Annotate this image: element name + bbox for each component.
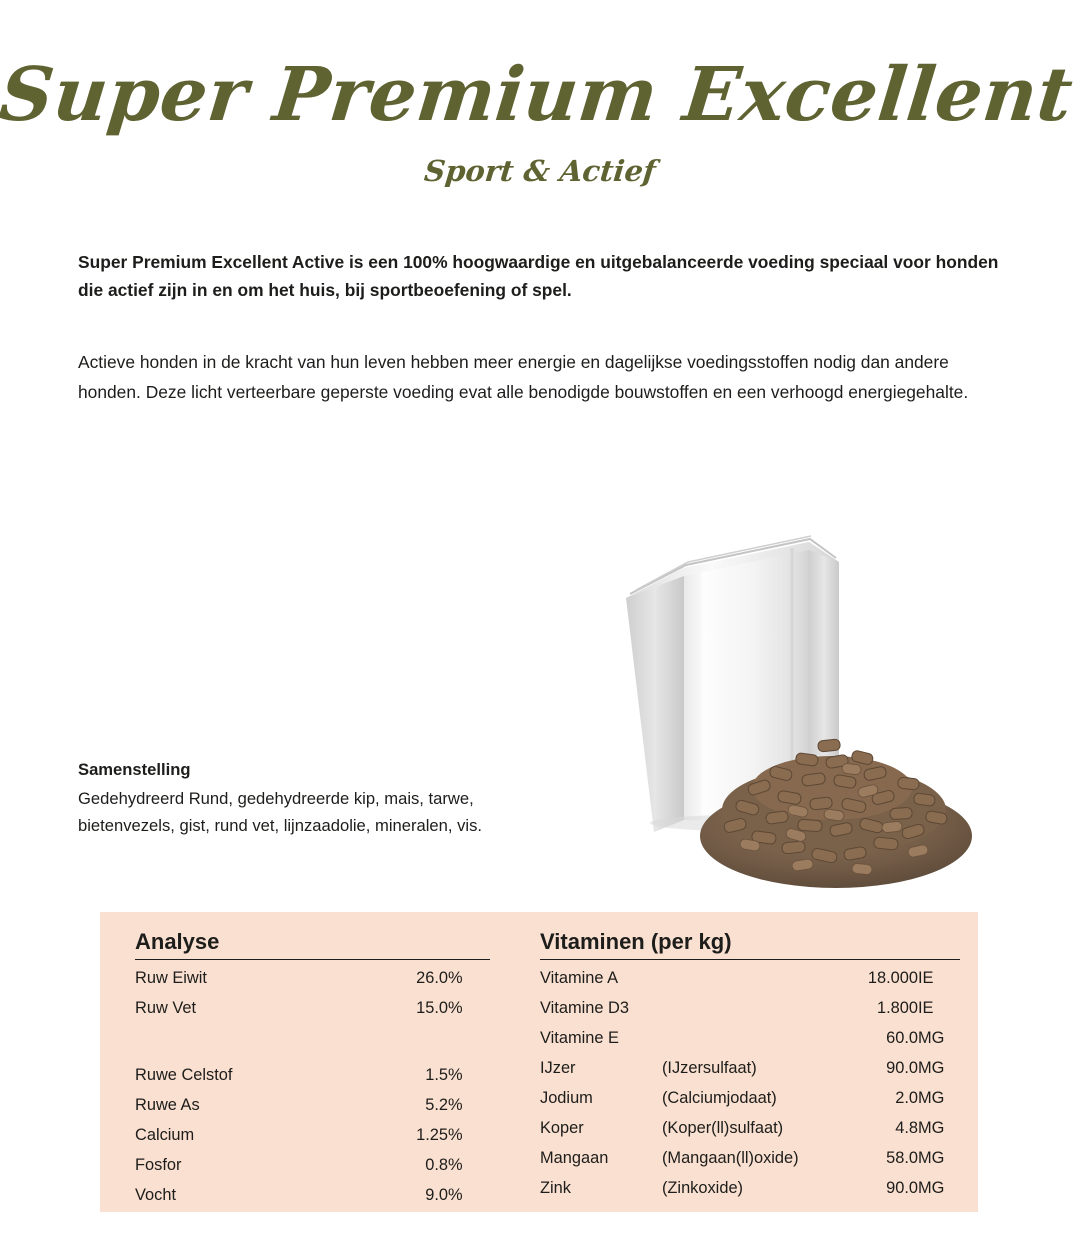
table-row: Vitamine E60.0MG — [540, 1023, 960, 1053]
row-value: 9.0 — [371, 1180, 448, 1210]
product-photo — [596, 520, 1000, 912]
row-unit: MG — [918, 1083, 960, 1113]
intro-lead-paragraph: Super Premium Excellent Active is een 10… — [78, 248, 1003, 304]
specification-panel: Analyse Ruw Eiwit26.0%Ruw Vet15.0% Ruwe … — [100, 912, 978, 1212]
vitaminen-column: Vitaminen (per kg) Vitamine A18.000IEVit… — [518, 912, 978, 1212]
row-source: (IJzersulfaat) — [662, 1053, 849, 1083]
row-name: Ruw Vet — [135, 993, 371, 1023]
row-unit: MG — [918, 1023, 960, 1053]
row-value: 90.0 — [849, 1053, 918, 1083]
row-unit: IE — [918, 993, 960, 1023]
composition-text: Gedehydreerd Rund, gedehydreerde kip, ma… — [78, 786, 548, 840]
row-unit: % — [448, 993, 490, 1023]
page-header: Super Premium Excellent Active Sport & A… — [0, 0, 1080, 188]
table-row: Fosfor0.8% — [135, 1150, 490, 1180]
row-source — [662, 993, 849, 1023]
table-row: Ruw Vet15.0% — [135, 993, 490, 1023]
table-spacer-cell — [135, 1023, 490, 1060]
table-row: Ruwe As5.2% — [135, 1090, 490, 1120]
row-name: Ruwe As — [135, 1090, 371, 1120]
page-title: Super Premium Excellent Active — [0, 58, 1080, 132]
row-value: 18.000 — [849, 963, 918, 993]
row-unit: % — [448, 1150, 490, 1180]
row-value: 60.0 — [849, 1023, 918, 1053]
row-value: 90.0 — [849, 1173, 918, 1203]
row-value: 2.0 — [849, 1083, 918, 1113]
row-value: 0.8 — [371, 1150, 448, 1180]
row-unit: % — [448, 1060, 490, 1090]
intro-body-paragraph: Actieve honden in de kracht van hun leve… — [78, 348, 1003, 407]
vitaminen-table: Vitamine A18.000IEVitamine D31.800IEVita… — [540, 963, 960, 1203]
row-source: (Zinkoxide) — [662, 1173, 849, 1203]
table-row: Koper(Koper(ll)sulfaat)4.8MG — [540, 1113, 960, 1143]
analyse-column: Analyse Ruw Eiwit26.0%Ruw Vet15.0% Ruwe … — [100, 912, 518, 1212]
row-value: 1.25 — [371, 1120, 448, 1150]
row-name: Vocht — [135, 1180, 371, 1210]
row-name: Vitamine D3 — [540, 993, 662, 1023]
row-source: (Mangaan(ll)oxide) — [662, 1143, 849, 1173]
page-subtitle: Sport & Actief — [0, 154, 1080, 188]
row-value: 5.2 — [371, 1090, 448, 1120]
row-name: Vitamine E — [540, 1023, 662, 1053]
table-row: Ruwe Celstof1.5% — [135, 1060, 490, 1090]
table-row: Vitamine D31.800IE — [540, 993, 960, 1023]
row-name: Ruwe Celstof — [135, 1060, 371, 1090]
analyse-table: Ruw Eiwit26.0%Ruw Vet15.0% Ruwe Celstof1… — [135, 963, 490, 1210]
row-name: Mangaan — [540, 1143, 662, 1173]
vitaminen-heading: Vitaminen (per kg) — [540, 929, 960, 955]
composition-section: Samenstelling Gedehydreerd Rund, gedehyd… — [78, 760, 548, 840]
table-row: Ruw Eiwit26.0% — [135, 963, 490, 993]
row-name: Jodium — [540, 1083, 662, 1113]
row-unit: MG — [918, 1053, 960, 1083]
row-unit: % — [448, 1180, 490, 1210]
analyse-heading-rule — [135, 959, 490, 960]
row-source — [662, 1023, 849, 1053]
table-spacer-row — [135, 1023, 490, 1060]
table-row: Mangaan(Mangaan(ll)oxide)58.0MG — [540, 1143, 960, 1173]
row-unit: IE — [918, 963, 960, 993]
row-name: Fosfor — [135, 1150, 371, 1180]
table-row: Vitamine A18.000IE — [540, 963, 960, 993]
composition-title: Samenstelling — [78, 760, 548, 780]
row-unit: MG — [918, 1143, 960, 1173]
row-value: 58.0 — [849, 1143, 918, 1173]
row-unit: % — [448, 963, 490, 993]
row-value: 26.0 — [371, 963, 448, 993]
row-value: 1.5 — [371, 1060, 448, 1090]
analyse-heading: Analyse — [135, 929, 490, 955]
row-unit: % — [448, 1120, 490, 1150]
row-name: Ruw Eiwit — [135, 963, 371, 993]
table-row: Jodium(Calciumjodaat)2.0MG — [540, 1083, 960, 1113]
row-value: 1.800 — [849, 993, 918, 1023]
table-row: Zink(Zinkoxide)90.0MG — [540, 1173, 960, 1203]
row-value: 4.8 — [849, 1113, 918, 1143]
table-row: Vocht9.0% — [135, 1180, 490, 1210]
table-row: Calcium1.25% — [135, 1120, 490, 1150]
row-name: Vitamine A — [540, 963, 662, 993]
row-name: Zink — [540, 1173, 662, 1203]
row-source: (Calciumjodaat) — [662, 1083, 849, 1113]
row-name: Koper — [540, 1113, 662, 1143]
row-value: 15.0 — [371, 993, 448, 1023]
row-unit: MG — [918, 1173, 960, 1203]
vitaminen-heading-rule — [540, 959, 960, 960]
row-source: (Koper(ll)sulfaat) — [662, 1113, 849, 1143]
intro-section: Super Premium Excellent Active is een 10… — [78, 248, 1003, 408]
row-name: IJzer — [540, 1053, 662, 1083]
row-unit: % — [448, 1090, 490, 1120]
row-unit: MG — [918, 1113, 960, 1143]
row-name: Calcium — [135, 1120, 371, 1150]
table-row: IJzer(IJzersulfaat)90.0MG — [540, 1053, 960, 1083]
row-source — [662, 963, 849, 993]
